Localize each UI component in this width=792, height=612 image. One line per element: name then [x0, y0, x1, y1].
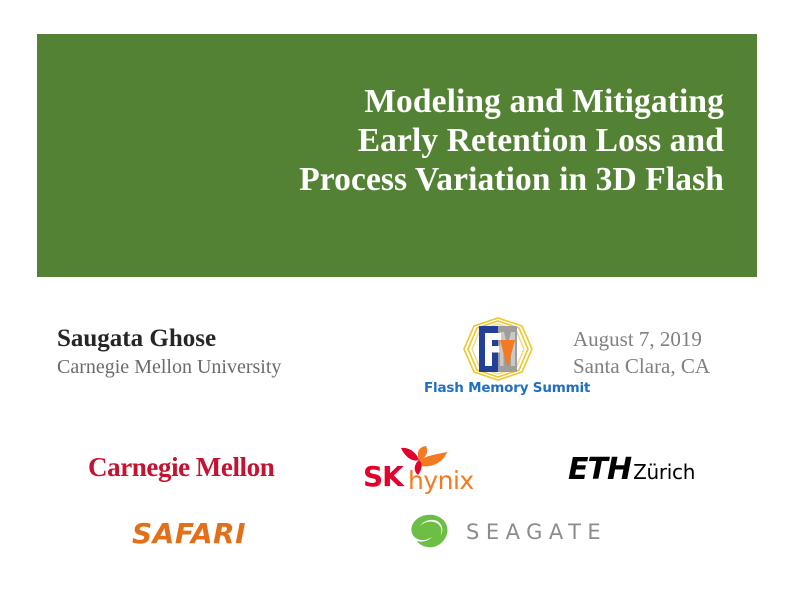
carnegie-mellon-logo: CarnegieMellon — [88, 452, 274, 483]
sponsor-logo-row-2: SAFARI SEAGATE — [0, 505, 792, 565]
eth-zurich-logo: ETHZürich — [568, 452, 695, 487]
author-affiliation: Carnegie Mellon University — [57, 355, 281, 380]
presenter-info-band: Saugata Ghose Carnegie Mellon University… — [0, 308, 792, 408]
title-line-1: Modeling and Mitigating — [64, 82, 724, 121]
author-block: Saugata Ghose Carnegie Mellon University — [57, 324, 281, 380]
fms-emblem-icon — [460, 316, 536, 382]
safari-logo: SAFARI — [132, 517, 246, 550]
slide-title: Modeling and Mitigating Early Retention … — [64, 82, 724, 199]
title-line-3: Process Variation in 3D Flash — [64, 160, 724, 199]
cmu-word-mellon: Mellon — [196, 452, 275, 482]
title-line-2: Early Retention Loss and — [64, 121, 724, 160]
flash-memory-summit-logo: Flash Memory Summit — [424, 316, 576, 404]
event-date-block: August 7, 2019 Santa Clara, CA — [573, 326, 710, 380]
seagate-spiral-icon — [408, 512, 452, 554]
sponsor-logo-row-1: CarnegieMellon SK hynix ETHZürich — [0, 438, 792, 500]
eth-word-eth: ETH — [568, 452, 631, 487]
sk-hynix-word-sk: SK — [363, 462, 403, 492]
fms-logo-caption: Flash Memory Summit — [424, 380, 576, 396]
event-location: Santa Clara, CA — [573, 353, 710, 380]
eth-word-zurich: Zürich — [633, 460, 695, 484]
event-date: August 7, 2019 — [573, 326, 710, 353]
seagate-logo: SEAGATE — [408, 511, 613, 557]
seagate-wordmark: SEAGATE — [466, 520, 607, 544]
cmu-word-carnegie: Carnegie — [88, 452, 190, 482]
sk-hynix-word-hynix: hynix — [408, 467, 474, 494]
title-banner: Modeling and Mitigating Early Retention … — [37, 34, 757, 277]
author-name: Saugata Ghose — [57, 324, 281, 354]
sk-hynix-logo: SK hynix — [363, 446, 493, 494]
